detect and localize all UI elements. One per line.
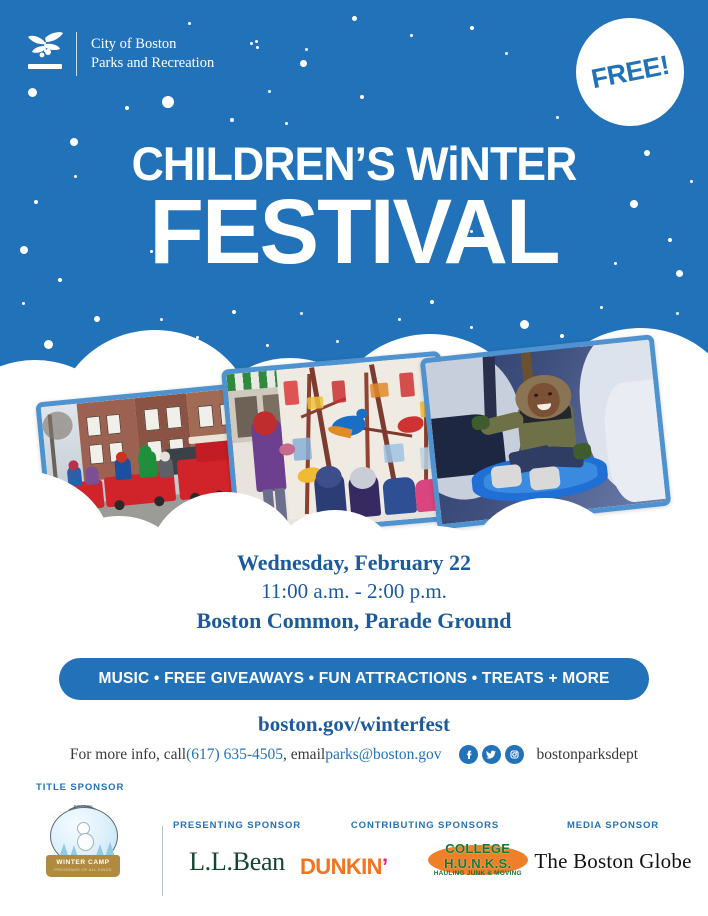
org-line-1: City of Boston [91,35,214,54]
contact-prefix: For more info, call [70,746,186,764]
sponsor-presenting: PRESENTING SPONSOR L.L.Bean [152,820,322,877]
website-url[interactable]: boston.gov/winterfest [0,712,708,737]
contact-phone[interactable]: (617) 635-4505 [186,746,283,764]
boston-parks-leaf-icon [24,28,66,80]
snow-globe-icon: BOSTON WINTER CAMP PROGRAMS OF ALL KINDS [41,799,125,877]
college-hunks-icon: COLLEGE H.U.N.K.S. HAULING JUNK & MOVING [422,837,534,885]
event-location: Boston Common, Parade Ground [0,606,708,636]
sponsor-media: MEDIA SPONSOR The Boston Globe [528,820,698,874]
facebook-icon[interactable] [459,745,478,764]
org-line-2: Parks and Recreation [91,54,214,73]
llbean-wordmark-icon: L.L.Bean [152,847,322,877]
activities-banner: MUSIC • FREE GIVEAWAYS • FUN ATTRACTIONS… [59,658,649,700]
org-name: City of Boston Parks and Recreation [91,35,214,73]
winter-festival-poster: City of Boston Parks and Recreation FREE… [0,0,708,916]
sponsor-contributing-label: CONTRIBUTING SPONSORS [300,820,550,831]
contact-middle: , email [283,746,325,764]
social-icons [459,745,528,764]
twitter-icon[interactable] [482,745,501,764]
title-line-1: CHILDREN’S WiNTER [18,140,691,187]
free-badge-label: FREE! [589,49,672,94]
snow-globe-base-text: WINTER CAMP [46,859,120,866]
sponsor-title-label: TITLE SPONSOR [18,782,148,793]
title-line-2: FESTIVAL [11,189,698,275]
brand-divider [76,32,77,76]
dunkin-wordmark-icon: DUNKIN’ [300,854,387,880]
instagram-icon[interactable] [505,745,524,764]
boston-globe-wordmark-icon: The Boston Globe [528,849,698,874]
sponsor-media-label: MEDIA SPONSOR [528,820,698,831]
sponsor-presenting-label: PRESENTING SPONSOR [152,820,322,831]
page-title: CHILDREN’S WiNTER FESTIVAL [0,140,708,275]
snow-globe-base: WINTER CAMP PROGRAMS OF ALL KINDS [46,855,120,877]
event-date: Wednesday, February 22 [0,548,708,577]
event-details: Wednesday, February 22 11:00 a.m. - 2:00… [0,548,708,636]
snow-globe-base-sub: PROGRAMS OF ALL KINDS [46,867,120,872]
dunkin-apostrophe: ’ [382,854,388,879]
social-handle: bostonparksdept [537,746,639,764]
event-time: 11:00 a.m. - 2:00 p.m. [0,577,708,606]
college-hunks-name: COLLEGE H.U.N.K.S. [422,841,534,871]
sponsor-contributing: CONTRIBUTING SPONSORS DUNKIN’ COLLEGE H.… [300,820,550,885]
sponsors-section: TITLE SPONSOR BOSTON [0,782,708,916]
free-badge: FREE! [576,18,684,126]
contact-line: For more info, call (617) 635-4505 , ema… [0,745,708,764]
activities-banner-text: MUSIC • FREE GIVEAWAYS • FUN ATTRACTIONS… [98,670,609,688]
dunkin-name: DUNKIN [300,854,382,879]
college-hunks-tagline: HAULING JUNK & MOVING [422,870,534,877]
boston-parks-logo: City of Boston Parks and Recreation [24,28,214,80]
sponsor-title: TITLE SPONSOR BOSTON [18,782,148,877]
contact-email[interactable]: parks@boston.gov [325,746,441,764]
